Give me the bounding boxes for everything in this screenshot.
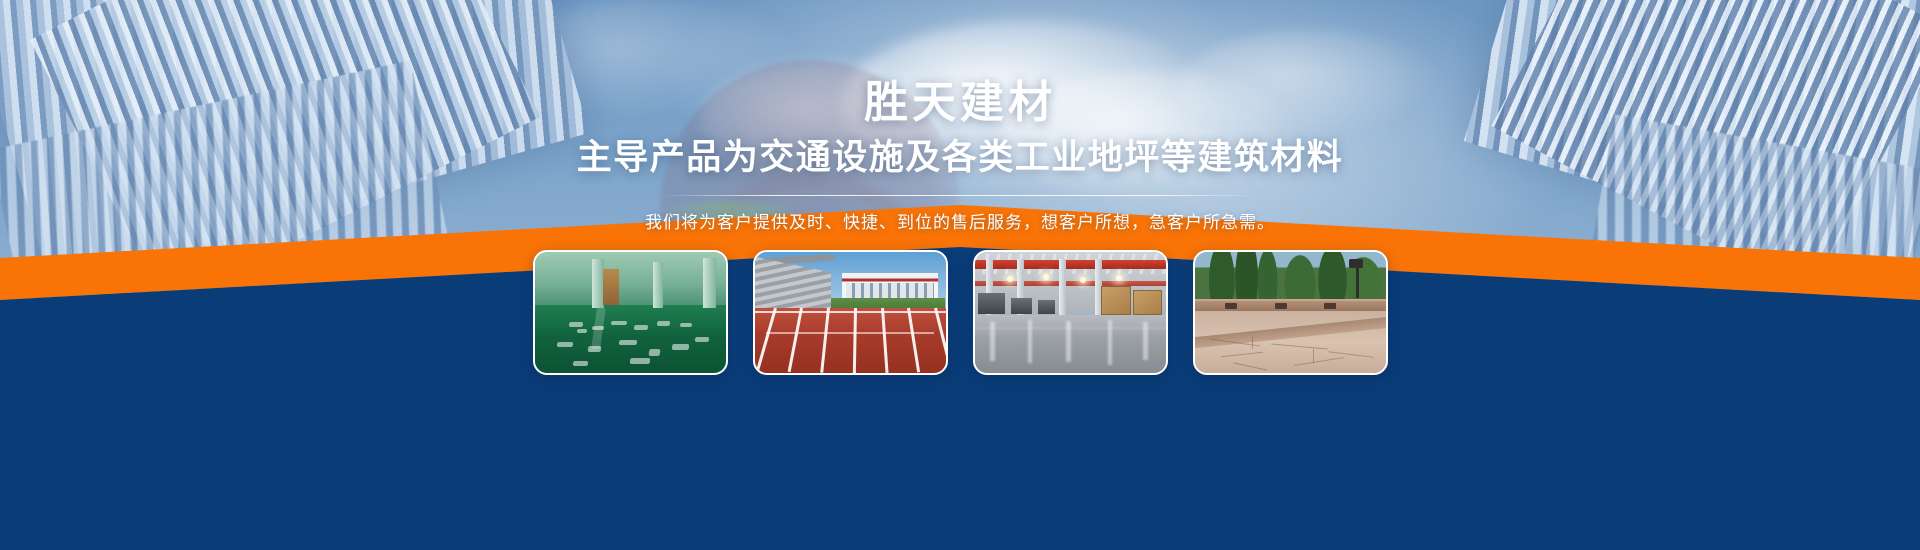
hero-subtitle: 主导产品为交通设施及各类工业地坪等建筑材料	[0, 137, 1920, 179]
thumbnail-stamped-concrete-plaza[interactable]	[1193, 250, 1388, 375]
green-epoxy-floor-image	[535, 252, 726, 373]
stamped-concrete-plaza-image	[1195, 252, 1386, 373]
hero-text-block: 胜天建材 主导产品为交通设施及各类工业地坪等建筑材料 我们将为客户提供及时、快捷…	[0, 78, 1920, 233]
thumbnail-red-running-track[interactable]	[753, 250, 948, 375]
hero-banner: 胜天建材 主导产品为交通设施及各类工业地坪等建筑材料 我们将为客户提供及时、快捷…	[0, 0, 1920, 550]
page-title: 胜天建材	[0, 78, 1920, 127]
thumbnail-industrial-workshop-floor[interactable]	[973, 250, 1168, 375]
hero-tagline: 我们将为客户提供及时、快捷、到位的售后服务，想客户所想，急客户所急需。	[0, 208, 1920, 233]
thumbnail-strip	[0, 250, 1920, 375]
divider	[660, 195, 1260, 196]
thumbnail-green-epoxy-floor[interactable]	[533, 250, 728, 375]
industrial-workshop-floor-image	[975, 252, 1166, 373]
red-running-track-image	[755, 252, 946, 373]
